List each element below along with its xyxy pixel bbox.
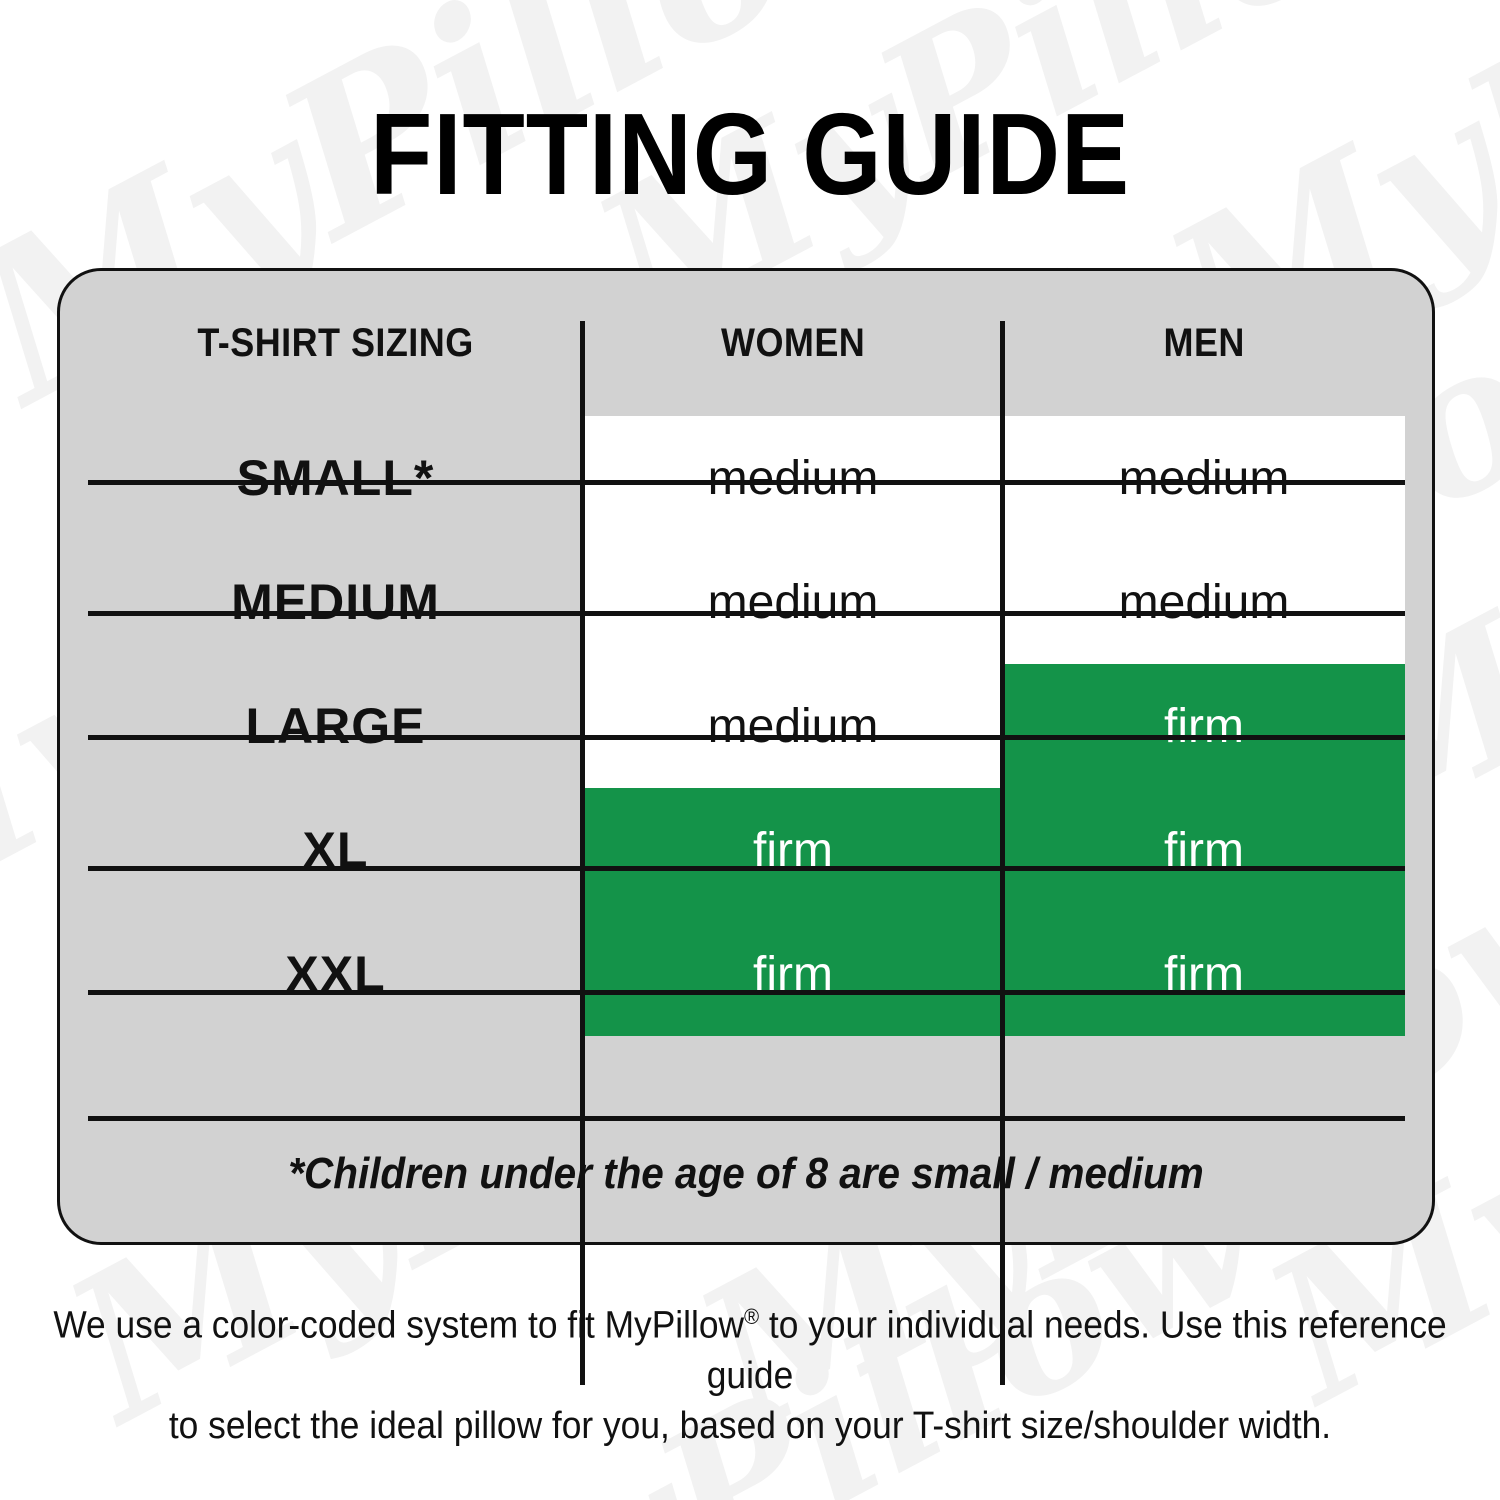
fitting-guide-table: T-SHIRT SIZING WOMEN MEN SMALL* medium m…: [88, 271, 1405, 1036]
column-header-label: T-SHIRT SIZING: [197, 321, 473, 366]
column-header-tshirt-sizing: T-SHIRT SIZING: [88, 271, 583, 416]
registered-trademark-icon: ®: [744, 1304, 759, 1329]
row-label-xl: XL: [88, 788, 583, 912]
row-label-small: SMALL*: [88, 416, 583, 540]
column-header-label: MEN: [1163, 321, 1244, 366]
cell-men-xl: firm: [1003, 788, 1405, 912]
table-row: XL firm firm: [88, 788, 1405, 912]
table-row: LARGE medium firm: [88, 664, 1405, 788]
table-row: SMALL* medium medium: [88, 416, 1405, 540]
row-rule-small-bottom: [88, 611, 1405, 616]
description-line-1: We use a color-coded system to fit MyPil…: [53, 1292, 1448, 1401]
cell-women-medium: medium: [583, 540, 1003, 664]
table-header-row: T-SHIRT SIZING WOMEN MEN: [88, 271, 1405, 416]
row-label-xxl: XXL: [88, 912, 583, 1036]
cell-women-xxl: firm: [583, 912, 1003, 1036]
table-footnote: *Children under the age of 8 are small /…: [115, 1149, 1377, 1199]
column-header-men: MEN: [1003, 271, 1405, 416]
table-row: MEDIUM medium medium: [88, 540, 1405, 664]
description-line-1-before: We use a color-coded system to fit MyPil…: [53, 1305, 744, 1347]
cell-men-xxl: firm: [1003, 912, 1405, 1036]
row-rule-xl-bottom: [88, 990, 1405, 995]
row-rule-table-bottom: [88, 1116, 1405, 1121]
row-label-large: LARGE: [88, 664, 583, 788]
column-header-label: WOMEN: [721, 321, 865, 366]
row-label-medium: MEDIUM: [88, 540, 583, 664]
cell-men-small: medium: [1003, 416, 1405, 540]
row-rule-large-bottom: [88, 866, 1405, 871]
table-row: XXL firm firm: [88, 912, 1405, 1036]
description-line-2: to select the ideal pillow for you, base…: [53, 1401, 1448, 1451]
cell-women-small: medium: [583, 416, 1003, 540]
row-rule-medium-bottom: [88, 735, 1405, 740]
column-header-women: WOMEN: [583, 271, 1003, 416]
fitting-guide-card: T-SHIRT SIZING WOMEN MEN SMALL* medium m…: [57, 268, 1435, 1245]
cell-men-medium: medium: [1003, 540, 1405, 664]
page-title: FITTING GUIDE: [90, 96, 1410, 212]
cell-men-large: firm: [1003, 664, 1405, 788]
row-rule-header-bottom: [88, 480, 1405, 485]
description-line-1-after: to your individual needs. Use this refer…: [707, 1305, 1447, 1397]
description-block: We use a color-coded system to fit MyPil…: [0, 1292, 1500, 1451]
cell-women-xl: firm: [583, 788, 1003, 912]
cell-women-large: medium: [583, 664, 1003, 788]
